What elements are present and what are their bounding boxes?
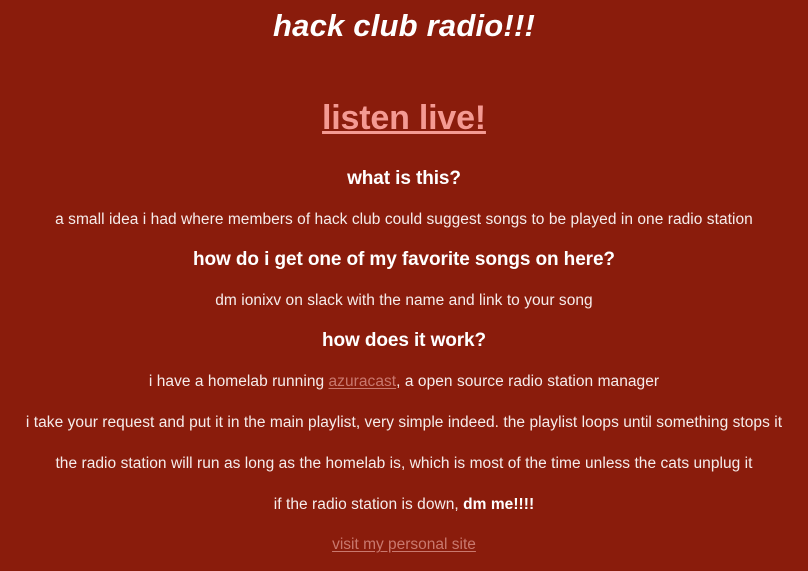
- heading-how-does-it-work: how does it work?: [16, 321, 792, 361]
- page-title: hack club radio!!!: [16, 0, 792, 44]
- homelab-text-after: , a open source radio station manager: [396, 373, 659, 390]
- listen-live-link[interactable]: listen live!: [322, 99, 486, 137]
- personal-site-link[interactable]: visit my personal site: [332, 536, 476, 553]
- paragraph-down-notice: if the radio station is down, dm me!!!!: [16, 484, 792, 525]
- heading-what-is-this: what is this?: [16, 159, 792, 199]
- listen-live-container: listen live!: [16, 98, 792, 145]
- heading-how-do-i-get-songs: how do i get one of my favorite songs on…: [16, 240, 792, 280]
- azuracast-link[interactable]: azuracast: [329, 373, 397, 390]
- paragraph-homelab: i have a homelab running azuracast, a op…: [16, 361, 792, 402]
- paragraph-how-do-i-get-songs: dm ionixv on slack with the name and lin…: [16, 280, 792, 321]
- hero-gap: [16, 145, 792, 159]
- down-notice-text: if the radio station is down,: [274, 496, 463, 513]
- homelab-text-before: i have a homelab running: [149, 373, 329, 390]
- dm-me-emphasis: dm me!!!!: [463, 496, 534, 513]
- paragraph-uptime: the radio station will run as long as th…: [16, 443, 792, 484]
- page-root: hack club radio!!! listen live! what is …: [0, 0, 808, 571]
- paragraph-what-is-this: a small idea i had where members of hack…: [16, 199, 792, 240]
- footer-container: visit my personal site: [16, 525, 792, 563]
- header-spacer: [16, 44, 792, 98]
- paragraph-playlist: i take your request and put it in the ma…: [16, 402, 792, 443]
